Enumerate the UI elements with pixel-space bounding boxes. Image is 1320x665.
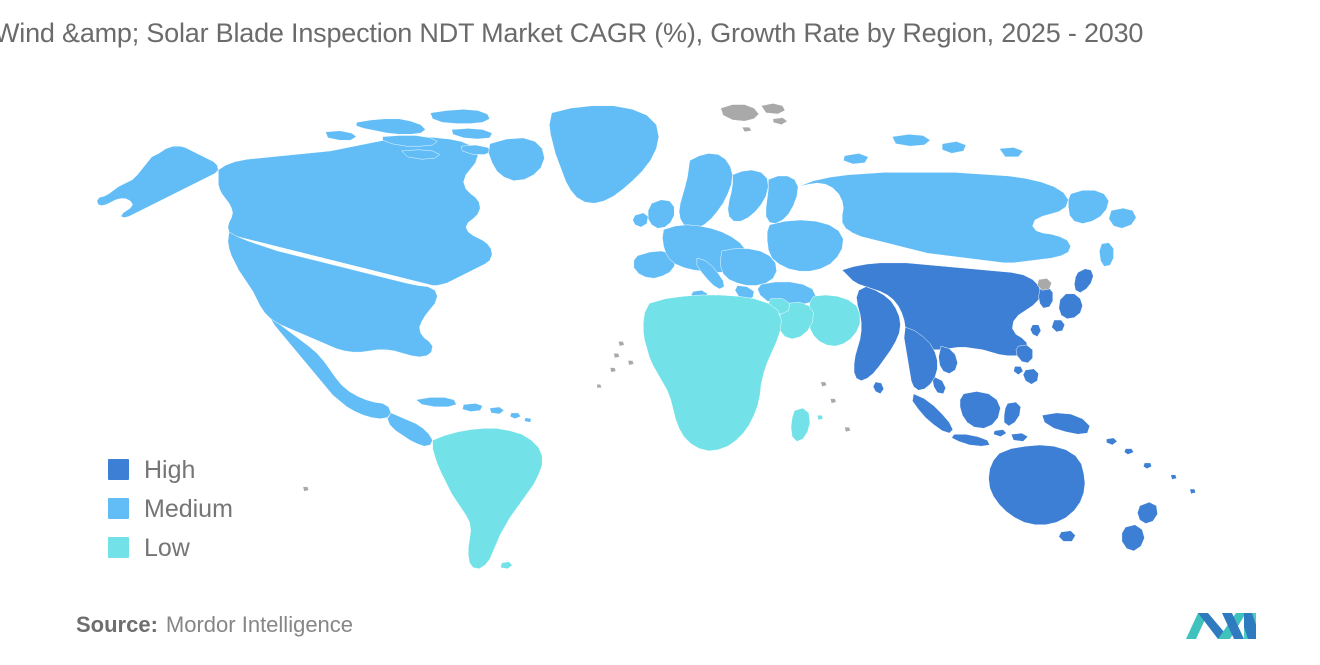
legend-label-medium: Medium [144,495,233,523]
region-south-america [433,428,543,568]
region-svalbard-nodata [721,103,788,132]
map-legend: High Medium Low [108,450,338,567]
region-asia-pacific [842,263,1196,551]
legend-swatch-medium-icon [108,498,129,519]
legend-label-high: High [144,456,195,484]
logo-svg [1186,601,1260,639]
legend-swatch-high-icon [108,459,129,480]
source-attribution: Source:Mordor Intelligence [76,612,353,638]
region-russia [798,134,1136,266]
legend-label-low: Low [144,534,190,562]
source-value: Mordor Intelligence [166,612,353,637]
region-europe [633,153,844,305]
region-north-america [97,109,545,446]
legend-swatch-low-icon [108,537,129,558]
legend-item-medium[interactable]: Medium [108,489,338,528]
source-label: Source: [76,612,158,637]
page-title: Wind &amp; Solar Blade Inspection NDT Ma… [0,16,1320,50]
mordor-intelligence-logo-icon [1186,601,1260,639]
legend-item-high[interactable]: High [108,450,338,489]
region-greenland [549,106,659,204]
legend-item-low[interactable]: Low [108,528,338,567]
